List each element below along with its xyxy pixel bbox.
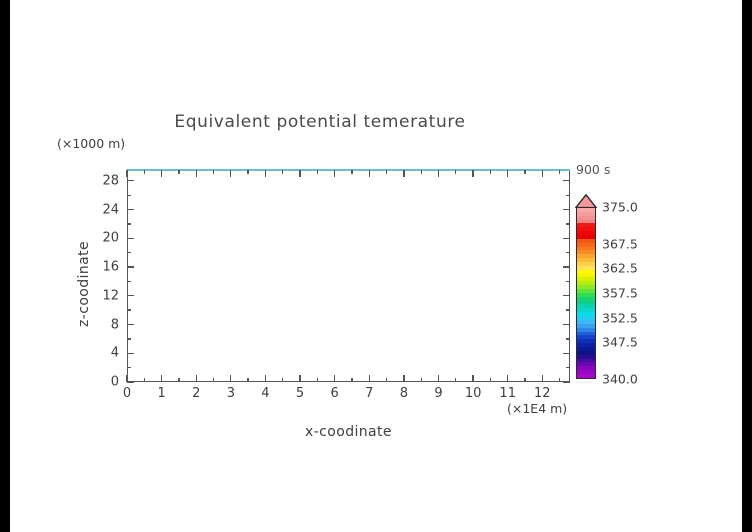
x-axis-top-tick-minor (455, 170, 456, 174)
x-axis-tick-label: 6 (331, 386, 339, 401)
y-axis-right-tick-minor (566, 367, 570, 368)
x-axis-tick-minor (317, 378, 318, 382)
plot-area (127, 170, 570, 382)
x-axis-tick-minor (559, 378, 560, 382)
y-axis-right-tick-major (563, 209, 570, 210)
x-axis-tick-minor (455, 378, 456, 382)
x-axis-tick-major (230, 375, 231, 382)
x-axis-unit-label: (×1E4 m) (507, 401, 567, 416)
colorbar-top-arrow-outline-icon (575, 194, 597, 208)
y-axis-tick-label: 0 (81, 375, 119, 390)
colorbar-tick-label: 340.0 (602, 372, 638, 387)
x-axis-top-tick-major (196, 170, 197, 177)
x-axis-tick-label: 9 (434, 386, 442, 401)
time-annotation: 900 s (576, 162, 610, 177)
x-axis-top-tick-minor (421, 170, 422, 174)
x-axis-tick-minor (213, 378, 214, 382)
y-axis-right-tick-minor (566, 223, 570, 224)
x-axis-tick-minor (178, 378, 179, 382)
x-axis-top-tick-major (265, 170, 266, 177)
x-axis-tick-major (542, 375, 543, 382)
colorbar-tick-label: 375.0 (602, 200, 638, 215)
x-axis-top-tick-major (230, 170, 231, 177)
y-axis-right-tick-minor (566, 195, 570, 196)
y-axis-unit-label: (×1000 m) (57, 136, 125, 151)
y-axis-tick-minor (127, 223, 131, 224)
x-axis-tick-label: 4 (261, 386, 269, 401)
x-axis-tick-major (196, 375, 197, 382)
y-axis-title: z-coodinate (76, 204, 92, 364)
y-axis-tick-major (127, 381, 134, 382)
domain-top-contour-line (127, 169, 570, 171)
colorbar (576, 207, 596, 379)
y-axis-tick-major (127, 353, 134, 354)
x-axis-top-tick-major (299, 170, 300, 177)
x-axis-top-tick-major (161, 170, 162, 177)
y-axis-tick-minor (127, 367, 131, 368)
x-axis-top-tick-major (542, 170, 543, 177)
x-axis-tick-minor (282, 378, 283, 382)
x-axis-top-tick-minor (282, 170, 283, 174)
y-axis-right-tick-minor (566, 309, 570, 310)
colorbar-tick-label: 367.5 (602, 236, 638, 251)
y-axis-tick-minor (127, 338, 131, 339)
y-axis-tick-major (127, 238, 134, 239)
x-axis-tick-minor (490, 378, 491, 382)
x-axis-top-tick-minor (213, 170, 214, 174)
figure-canvas: Equivalent potential temerature (×1000 m… (10, 0, 742, 532)
y-axis-right-tick-major (563, 381, 570, 382)
y-axis-right-tick-major (563, 238, 570, 239)
colorbar-tick-label: 352.5 (602, 310, 638, 325)
x-axis-title: x-coodinate (127, 424, 570, 440)
y-axis-right-tick-major (563, 324, 570, 325)
x-axis-tick-major (369, 375, 370, 382)
x-axis-top-tick-minor (559, 170, 560, 174)
y-axis-tick-major (127, 324, 134, 325)
x-axis-tick-minor (351, 378, 352, 382)
y-axis-tick-minor (127, 252, 131, 253)
x-axis-tick-minor (247, 378, 248, 382)
colorbar-tick-label: 357.5 (602, 286, 638, 301)
y-axis-right-tick-minor (566, 338, 570, 339)
colorbar-band (577, 374, 595, 378)
x-axis-tick-label: 3 (227, 386, 235, 401)
y-axis-tick-minor (127, 309, 131, 310)
x-axis-tick-label: 7 (365, 386, 373, 401)
x-axis-tick-label: 8 (400, 386, 408, 401)
y-axis-right-tick-major (563, 180, 570, 181)
x-axis-tick-major (334, 375, 335, 382)
x-axis-tick-major (403, 375, 404, 382)
x-axis-tick-label: 12 (534, 386, 551, 401)
y-axis-right-tick-minor (566, 281, 570, 282)
x-axis-top-tick-major (126, 170, 127, 177)
y-axis-tick-major (127, 266, 134, 267)
x-axis-tick-label: 10 (465, 386, 482, 401)
x-axis-tick-major (161, 375, 162, 382)
y-axis-tick-label: 28 (81, 173, 119, 188)
x-axis-tick-major (507, 375, 508, 382)
x-axis-top-tick-minor (524, 170, 525, 174)
x-axis-top-tick-minor (351, 170, 352, 174)
y-axis-tick-major (127, 295, 134, 296)
x-axis-top-tick-major (472, 170, 473, 177)
x-axis-tick-minor (144, 378, 145, 382)
y-axis-right-tick-major (563, 353, 570, 354)
x-axis-top-tick-major (334, 170, 335, 177)
x-axis-top-tick-major (438, 170, 439, 177)
x-axis-tick-major (265, 375, 266, 382)
x-axis-tick-label: 1 (157, 386, 165, 401)
page-title: Equivalent potential temerature (10, 112, 630, 132)
colorbar-tick-label: 362.5 (602, 261, 638, 276)
x-axis-tick-label: 5 (296, 386, 304, 401)
x-axis-tick-major (438, 375, 439, 382)
x-axis-tick-minor (421, 378, 422, 382)
x-axis-top-tick-major (369, 170, 370, 177)
x-axis-top-tick-minor (144, 170, 145, 174)
x-axis-top-tick-major (507, 170, 508, 177)
y-axis-right-tick-major (563, 266, 570, 267)
x-axis-top-tick-minor (386, 170, 387, 174)
y-axis-tick-minor (127, 281, 131, 282)
x-axis-tick-major (299, 375, 300, 382)
y-axis-right-tick-major (563, 295, 570, 296)
x-axis-top-tick-major (403, 170, 404, 177)
x-axis-top-tick-minor (317, 170, 318, 174)
y-axis-tick-minor (127, 195, 131, 196)
x-axis-tick-label: 0 (123, 386, 131, 401)
x-axis-tick-major (472, 375, 473, 382)
colorbar-tick-label: 347.5 (602, 335, 638, 350)
y-axis-tick-major (127, 209, 134, 210)
x-axis-top-tick-minor (490, 170, 491, 174)
x-axis-tick-minor (386, 378, 387, 382)
x-axis-tick-label: 11 (499, 386, 516, 401)
y-axis-right-tick-minor (566, 252, 570, 253)
x-axis-top-tick-minor (178, 170, 179, 174)
x-axis-tick-minor (524, 378, 525, 382)
x-axis-tick-label: 2 (192, 386, 200, 401)
y-axis-tick-major (127, 180, 134, 181)
x-axis-top-tick-minor (247, 170, 248, 174)
